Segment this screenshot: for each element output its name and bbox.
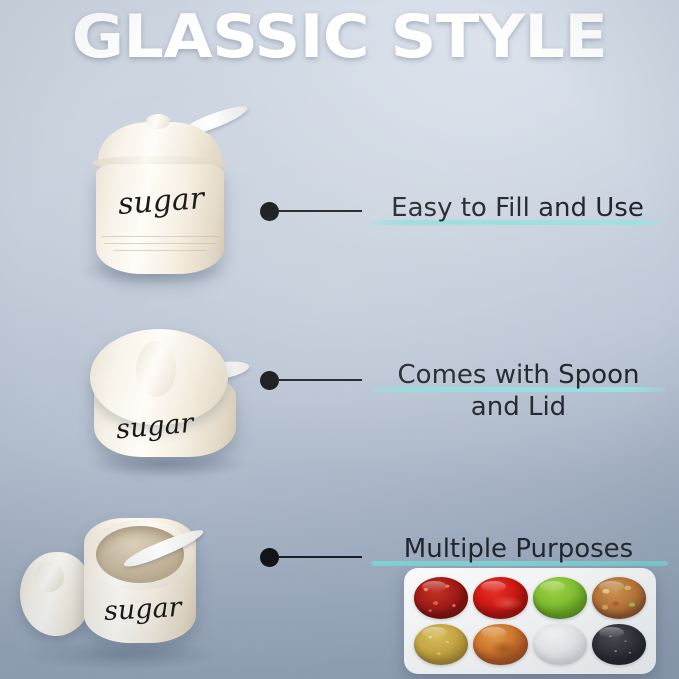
callout-line-1: Easy to Fill and Use (391, 193, 644, 223)
callout-line-1: Comes with Spoon (398, 360, 640, 390)
product-image-closed-top: sugar (80, 315, 270, 480)
jar-label-text: sugar (117, 181, 205, 222)
bowl-grid (414, 577, 646, 665)
callout-bullet-dot (260, 202, 279, 221)
lid-knob (146, 114, 170, 129)
callout-leader-line (278, 379, 362, 381)
callout-text: Easy to Fill and Use (366, 192, 669, 224)
product-image-open: sugar (18, 500, 248, 675)
jar-label-text: sugar (103, 592, 182, 627)
detached-lid-knob (34, 562, 64, 592)
bowl-black-sesame (592, 624, 646, 666)
bowl-chili-flakes (414, 577, 468, 619)
callout-highlight-underline (370, 387, 666, 392)
callout-line-1: Multiple Purposes (404, 534, 633, 564)
bowl-red-sauce (473, 577, 527, 619)
bowl-matcha-powder (533, 577, 587, 619)
multi-purpose-inset-card (404, 568, 656, 674)
callout-leader-line (278, 556, 362, 558)
infographic-canvas: GLASSIC STYLE sugar sugar (0, 0, 679, 679)
callout-highlight-underline (369, 220, 666, 225)
bowl-white-salt (533, 624, 587, 666)
callout-bullet-dot (260, 548, 279, 567)
callout-leader-line (278, 210, 362, 212)
product-image-closed-front: sugar (70, 108, 260, 283)
page-title: GLASSIC STYLE (0, 6, 679, 68)
callout-text: Comes with Spoon and Lid (366, 359, 671, 423)
bowl-mixed-nuts (592, 577, 646, 619)
callout-line-2: and Lid (366, 391, 671, 423)
lid-knob (136, 341, 176, 397)
bowl-paprika-powder (473, 624, 527, 666)
jar-shadow (20, 640, 225, 670)
bowl-yellow-grain (414, 624, 468, 666)
callout-highlight-underline (371, 561, 668, 566)
callout-text: Multiple Purposes (366, 533, 671, 565)
